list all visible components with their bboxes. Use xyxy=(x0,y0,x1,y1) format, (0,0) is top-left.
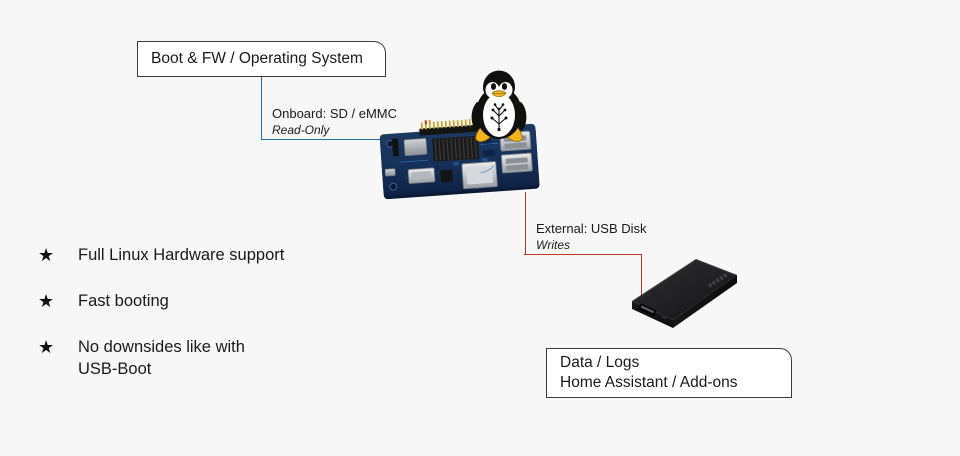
list-item-label: No downsides like with USB-Boot xyxy=(78,336,288,381)
callout-boot-firmware-os: Boot & FW / Operating System xyxy=(137,41,386,77)
star-icon: ★ xyxy=(38,290,78,314)
list-item: ★ No downsides like with USB-Boot xyxy=(38,336,328,381)
external-usb-disk-image xyxy=(624,252,740,334)
list-item: ★ Full Linux Hardware support xyxy=(38,244,328,268)
connector-onboard-vertical xyxy=(261,77,262,140)
callout-data-line-1: Data / Logs xyxy=(560,353,778,373)
list-item: ★ Fast booting xyxy=(38,290,328,314)
list-item-label: Full Linux Hardware support xyxy=(78,244,284,266)
label-external-storage: External: USB Disk Writes xyxy=(536,221,647,253)
connector-onboard-horizontal xyxy=(261,139,392,140)
linux-tux-penguin-icon xyxy=(466,68,532,146)
benefits-list: ★ Full Linux Hardware support ★ Fast boo… xyxy=(38,244,328,380)
star-icon: ★ xyxy=(38,244,78,268)
callout-boot-line-1: Boot & FW / Operating System xyxy=(151,49,372,69)
star-icon: ★ xyxy=(38,336,78,360)
list-item-label: Fast booting xyxy=(78,290,169,312)
slide-canvas: Boot & FW / Operating System Data / Logs… xyxy=(0,0,960,456)
callout-data-line-2: Home Assistant / Add-ons xyxy=(560,373,778,393)
label-external-title: External: USB Disk xyxy=(536,221,647,238)
callout-data-logs: Data / Logs Home Assistant / Add-ons xyxy=(546,348,792,398)
label-external-subtitle: Writes xyxy=(536,238,647,253)
